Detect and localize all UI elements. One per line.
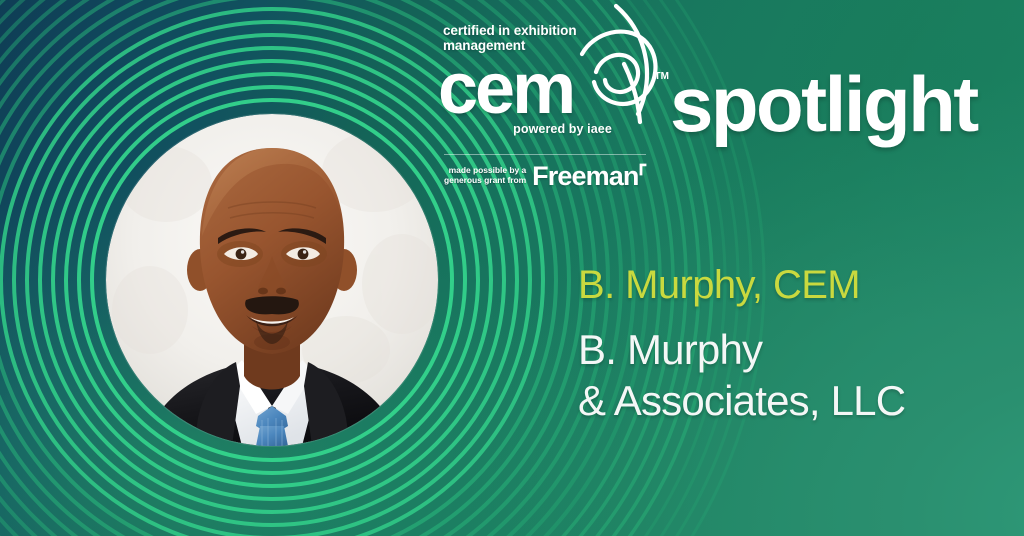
freeman-logo: Freeman (532, 162, 638, 190)
cem-spotlight-lockup: certified in exhibition management cem T… (438, 24, 998, 184)
cem-logo: certified in exhibition management cem T… (438, 24, 653, 136)
person-org-line1: B. Murphy (578, 324, 1008, 375)
cem-spotlight-banner: certified in exhibition management cem T… (0, 0, 1024, 536)
person-org-line2: & Associates, LLC (578, 375, 1008, 426)
sponsor-credit-line2: generous grant from (444, 176, 526, 186)
cem-tagline-line1: certified in exhibition (443, 24, 653, 39)
freeman-wordmark: Freeman (532, 161, 638, 191)
person-info: B. Murphy, CEM B. Murphy & Associates, L… (578, 262, 1008, 426)
spotlight-title: spotlight (670, 64, 977, 144)
person-name: B. Murphy, CEM (578, 262, 1008, 308)
trademark-symbol: TM (655, 42, 669, 112)
person-organization: B. Murphy & Associates, LLC (578, 324, 1008, 426)
lockup-divider (444, 154, 646, 155)
speaker-portrait (106, 114, 438, 446)
sponsor-credit: made possible by a generous grant from F… (444, 162, 638, 190)
cem-wordmark: cem (438, 49, 573, 129)
cem-wordmark-row: cem TM (438, 54, 653, 124)
freeman-flag-icon (639, 163, 647, 176)
sponsor-credit-text: made possible by a generous grant from (444, 166, 526, 186)
